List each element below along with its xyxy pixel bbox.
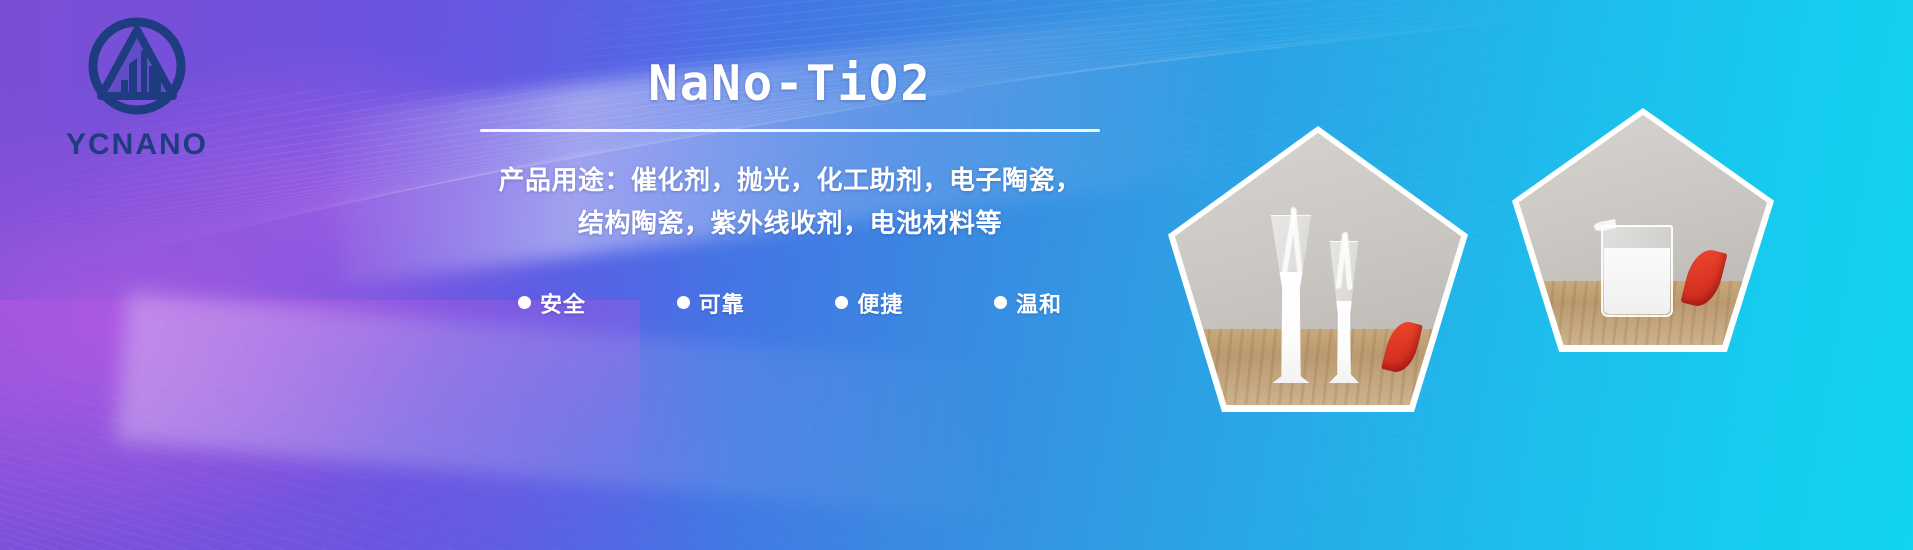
product-banner: YCNANO NaNo-TiO2 产品用途：催化剂，抛光，化工助剂，电子陶瓷， … bbox=[0, 0, 1913, 550]
feature-item-reliable: 可靠 bbox=[677, 287, 745, 319]
vases-scene bbox=[1175, 133, 1461, 405]
hero-content: NaNo-TiO2 产品用途：催化剂，抛光，化工助剂，电子陶瓷， 结构陶瓷，紫外… bbox=[480, 58, 1100, 319]
bullet-dot-icon bbox=[835, 296, 848, 309]
description-line-2: 结构陶瓷，紫外线收剂，电池材料等 bbox=[480, 203, 1100, 245]
description-line-1: 产品用途：催化剂，抛光，化工助剂，电子陶瓷， bbox=[480, 160, 1100, 202]
bullet-dot-icon bbox=[518, 296, 531, 309]
wave-fan-lower-left bbox=[0, 300, 960, 550]
title-divider bbox=[480, 129, 1100, 132]
product-description: 产品用途：催化剂，抛光，化工助剂，电子陶瓷， 结构陶瓷，紫外线收剂，电池材料等 bbox=[480, 160, 1100, 244]
product-photo-vases[interactable] bbox=[1168, 126, 1468, 412]
bullet-dot-icon bbox=[994, 296, 1007, 309]
product-photo-beaker[interactable] bbox=[1512, 108, 1774, 352]
feature-item-safe: 安全 bbox=[518, 287, 586, 319]
page-title: NaNo-TiO2 bbox=[480, 58, 1100, 109]
purple-lower-band bbox=[0, 300, 640, 550]
feature-label: 便捷 bbox=[857, 287, 903, 319]
beaker-scene bbox=[1519, 115, 1767, 345]
feature-list: 安全 可靠 便捷 温和 bbox=[480, 287, 1100, 319]
brand-logo[interactable]: YCNANO bbox=[42, 14, 232, 161]
light-streak-secondary bbox=[115, 292, 1005, 518]
brand-name: YCNANO bbox=[42, 128, 232, 161]
feature-item-convenient: 便捷 bbox=[835, 287, 903, 319]
feature-label: 可靠 bbox=[699, 287, 745, 319]
product-photo-group bbox=[1140, 0, 1913, 550]
feature-item-mild: 温和 bbox=[994, 287, 1062, 319]
feature-label: 安全 bbox=[540, 287, 586, 319]
bullet-dot-icon bbox=[677, 296, 690, 309]
ycnano-triangle-circle-logo-icon bbox=[81, 14, 193, 126]
feature-label: 温和 bbox=[1016, 287, 1062, 319]
beaker-icon bbox=[1601, 225, 1673, 317]
